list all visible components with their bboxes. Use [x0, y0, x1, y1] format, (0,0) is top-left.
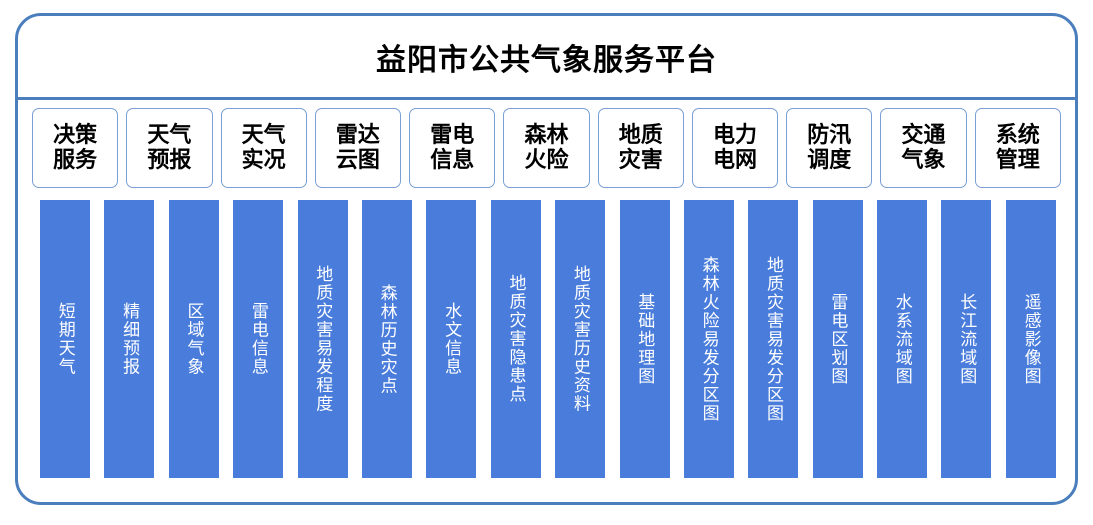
module-bar-label: 雷电区划图 [826, 293, 849, 386]
nav-button-label-line2: 灾害 [619, 148, 663, 173]
nav-button-label-line2: 预报 [147, 148, 191, 173]
module-bar-label: 长江流域图 [955, 293, 978, 386]
nav-button-label-line2: 气象 [902, 148, 946, 173]
title-area: 益阳市公共气象服务平台 [18, 16, 1075, 97]
module-bar-label: 森林历史灾点 [375, 284, 398, 395]
module-bar-label: 雷电信息 [246, 302, 269, 376]
nav-button-label-line1: 地质 [619, 123, 663, 148]
module-bar-geological-disaster-historical-data[interactable]: 地质灾害历史资料 [555, 200, 605, 478]
nav-button-label-line1: 系统 [996, 123, 1040, 148]
module-bar-label: 短期天气 [53, 302, 76, 376]
module-bar-base-geographic-map[interactable]: 基础地理图 [620, 200, 670, 478]
nav-button-label-line1: 天气 [147, 123, 191, 148]
module-bar-remote-sensing-image-map[interactable]: 遥感影像图 [1006, 200, 1056, 478]
module-bar-water-system-basin-map[interactable]: 水系流域图 [877, 200, 927, 478]
module-bar-yangtze-river-basin-map[interactable]: 长江流域图 [941, 200, 991, 478]
module-bar-forest-historical-disaster-points[interactable]: 森林历史灾点 [362, 200, 412, 478]
module-bar-label: 区域气象 [182, 302, 205, 376]
nav-button-label-line1: 天气 [242, 123, 286, 148]
nav-button-power-grid[interactable]: 电力电网 [692, 108, 778, 188]
module-bar-refined-forecast[interactable]: 精细预报 [104, 200, 154, 478]
nav-button-traffic-meteorology[interactable]: 交通气象 [880, 108, 966, 188]
main-navigation: 决策服务天气预报天气实况雷达云图雷电信息森林火险地质灾害电力电网防汛调度交通气象… [28, 108, 1065, 188]
nav-button-label-line2: 调度 [807, 148, 851, 173]
module-bar-label: 地质灾害历史资料 [568, 265, 591, 413]
platform-frame: 益阳市公共气象服务平台 决策服务天气预报天气实况雷达云图雷电信息森林火险地质灾害… [15, 13, 1078, 505]
module-bar-lightning-information[interactable]: 雷电信息 [233, 200, 283, 478]
module-bar-strip: 短期天气精细预报区域气象雷电信息地质灾害易发程度森林历史灾点水文信息地质灾害隐患… [40, 200, 1056, 478]
module-bar-regional-meteorology[interactable]: 区域气象 [169, 200, 219, 478]
nav-button-label-line1: 雷电 [430, 123, 474, 148]
nav-button-forest-fire-risk[interactable]: 森林火险 [503, 108, 589, 188]
module-bar-geological-disaster-hidden-danger-points[interactable]: 地质灾害隐患点 [491, 200, 541, 478]
module-bar-label: 精细预报 [118, 302, 141, 376]
page-title: 益阳市公共气象服务平台 [376, 35, 717, 79]
nav-button-label-line2: 火险 [524, 148, 568, 173]
module-bar-label: 地质灾害隐患点 [504, 274, 527, 404]
module-bar-geological-disaster-zoning-map[interactable]: 地质灾害易发分区图 [748, 200, 798, 478]
nav-button-weather-forecast[interactable]: 天气预报 [126, 108, 212, 188]
nav-button-label-line2: 管理 [996, 148, 1040, 173]
nav-button-label-line1: 森林 [524, 123, 568, 148]
nav-button-label-line1: 防汛 [807, 123, 851, 148]
module-bar-forest-fire-risk-zoning-map[interactable]: 森林火险易发分区图 [684, 200, 734, 478]
nav-button-geological-disaster[interactable]: 地质灾害 [598, 108, 684, 188]
module-bar-label: 遥感影像图 [1019, 293, 1042, 386]
module-bar-label: 地质灾害易发分区图 [762, 256, 785, 423]
nav-button-label-line2: 实况 [242, 148, 286, 173]
module-bar-hydrological-information[interactable]: 水文信息 [426, 200, 476, 478]
nav-button-label-line1: 雷达 [336, 123, 380, 148]
module-bar-label: 地质灾害易发程度 [311, 265, 334, 413]
module-bar-label: 基础地理图 [633, 293, 656, 386]
nav-button-flood-control-dispatch[interactable]: 防汛调度 [786, 108, 872, 188]
nav-button-label-line2: 服务 [53, 148, 97, 173]
nav-button-label-line1: 决策 [53, 123, 97, 148]
module-bar-short-term-weather[interactable]: 短期天气 [40, 200, 90, 478]
nav-button-label-line1: 交通 [902, 123, 946, 148]
nav-button-label-line1: 电力 [713, 123, 757, 148]
title-divider [18, 97, 1075, 100]
module-bar-geological-disaster-susceptibility[interactable]: 地质灾害易发程度 [298, 200, 348, 478]
module-bar-label: 水系流域图 [890, 293, 913, 386]
module-bar-lightning-zoning-map[interactable]: 雷电区划图 [813, 200, 863, 478]
nav-button-decision-service[interactable]: 决策服务 [32, 108, 118, 188]
nav-button-label-line2: 云图 [336, 148, 380, 173]
nav-button-radar-cloud-map[interactable]: 雷达云图 [315, 108, 401, 188]
nav-button-label-line2: 信息 [430, 148, 474, 173]
nav-button-weather-live[interactable]: 天气实况 [221, 108, 307, 188]
module-bar-label: 水文信息 [440, 302, 463, 376]
nav-button-lightning-info[interactable]: 雷电信息 [409, 108, 495, 188]
nav-button-label-line2: 电网 [713, 148, 757, 173]
nav-button-system-management[interactable]: 系统管理 [975, 108, 1061, 188]
module-bar-label: 森林火险易发分区图 [697, 256, 720, 423]
